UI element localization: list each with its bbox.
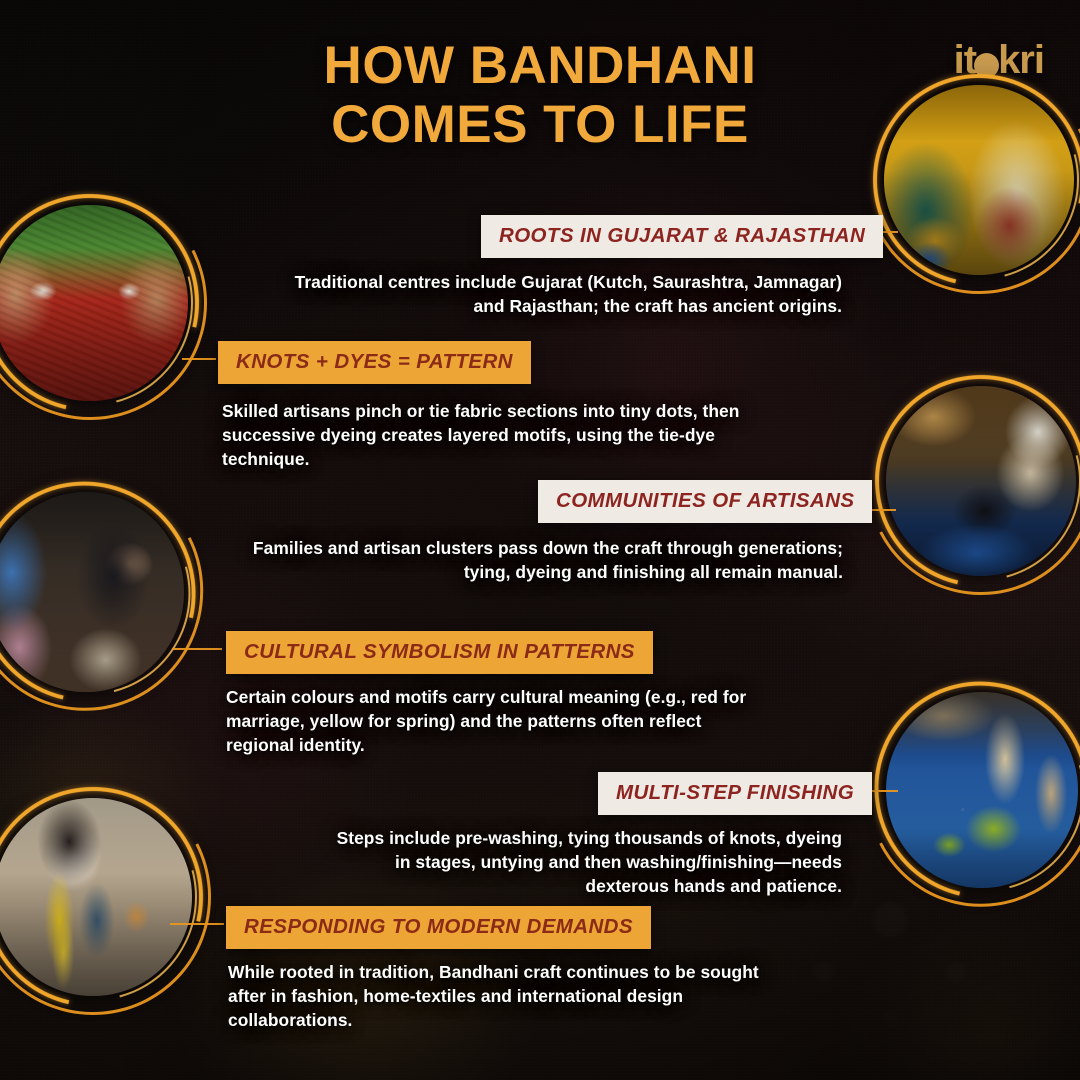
section-heading-modern-demands: RESPONDING TO MODERN DEMANDS	[226, 906, 651, 949]
photo-women-tying-yellow	[884, 85, 1074, 275]
connector-line-knots	[182, 358, 216, 360]
photo-hands-red-fabric	[0, 205, 188, 401]
section-body-knots-dyes: Skilled artisans pinch or tie fabric sec…	[222, 399, 746, 471]
section-heading-symbolism: CULTURAL SYMBOLISM IN PATTERNS	[226, 631, 653, 674]
section-body-roots: Traditional centres include Gujarat (Kut…	[280, 270, 842, 318]
section-heading-roots: ROOTS IN GUJARAT & RAJASTHAN	[481, 215, 883, 258]
section-heading-communities: COMMUNITIES OF ARTISANS	[538, 480, 872, 523]
section-heading-knots-dyes: KNOTS + DYES = PATTERN	[218, 341, 531, 384]
connector-line-symbolism	[172, 648, 222, 650]
photo-blue-dye-vat	[886, 692, 1078, 888]
section-body-modern-demands: While rooted in tradition, Bandhani craf…	[228, 960, 780, 1032]
connector-line-modern	[170, 923, 224, 925]
photo-artisan-yellow-cloth	[0, 798, 192, 996]
section-body-symbolism: Certain colours and motifs carry cultura…	[226, 685, 766, 757]
photo-dyer-blue-tub	[886, 386, 1076, 576]
photo-women-tying-dark	[0, 492, 184, 692]
section-body-communities: Families and artisan clusters pass down …	[240, 536, 843, 584]
section-heading-finishing: MULTI-STEP FINISHING	[598, 772, 872, 815]
section-body-finishing: Steps include pre-washing, tying thousan…	[318, 826, 842, 898]
